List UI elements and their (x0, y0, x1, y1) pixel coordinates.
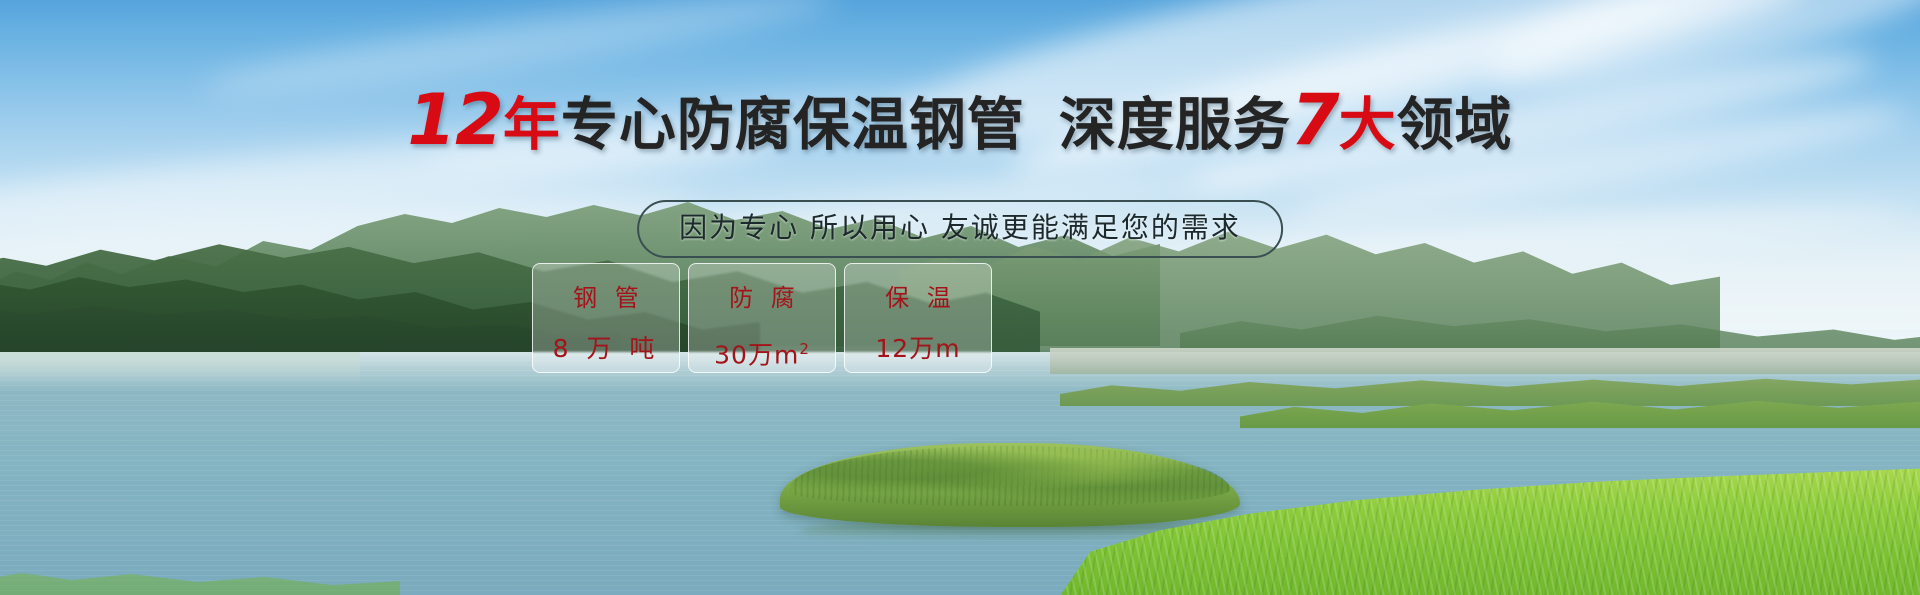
stat-card-label: 防 腐 (724, 285, 800, 311)
stat-card-value: 8 万 吨 (553, 335, 660, 363)
stat-card-value: 12万m (875, 335, 960, 363)
stat-card-group: 钢 管 8 万 吨 防 腐 30万m2 保 温 12万m (532, 263, 992, 373)
headline-fields-unit: 大 (1339, 92, 1397, 158)
headline-fields-number: 7 (1291, 79, 1339, 161)
stat-card-insulation: 保 温 12万m (844, 263, 992, 373)
headline-years-unit: 年 (503, 92, 561, 158)
subtitle-pill: 因为专心 所以用心 友诚更能满足您的需求 (637, 200, 1283, 258)
stat-card-label: 保 温 (880, 285, 956, 311)
banner-content: 12年专心防腐保温钢管深度服务7大领域 因为专心 所以用心 友诚更能满足您的需求… (0, 0, 1920, 595)
stat-card-value: 30万m2 (714, 335, 810, 369)
stat-card-value-superscript: 2 (799, 340, 810, 358)
headline-years-number: 12 (407, 79, 502, 161)
stat-card-steel-pipe: 钢 管 8 万 吨 (532, 263, 680, 373)
headline-service-text: 深度服务 (1059, 92, 1291, 158)
stat-card-value-text: 12万m (875, 334, 960, 363)
headline: 12年专心防腐保温钢管深度服务7大领域 (0, 88, 1920, 157)
headline-fields-tail: 领域 (1397, 92, 1513, 158)
stat-card-value-text: 8 万 吨 (553, 334, 660, 363)
stat-card-label: 钢 管 (568, 285, 644, 311)
stat-card-anticorrosion: 防 腐 30万m2 (688, 263, 836, 373)
headline-main-text: 专心防腐保温钢管 (561, 92, 1025, 158)
promo-banner: 12年专心防腐保温钢管深度服务7大领域 因为专心 所以用心 友诚更能满足您的需求… (0, 0, 1920, 595)
stat-card-value-text: 30万m (714, 340, 799, 369)
